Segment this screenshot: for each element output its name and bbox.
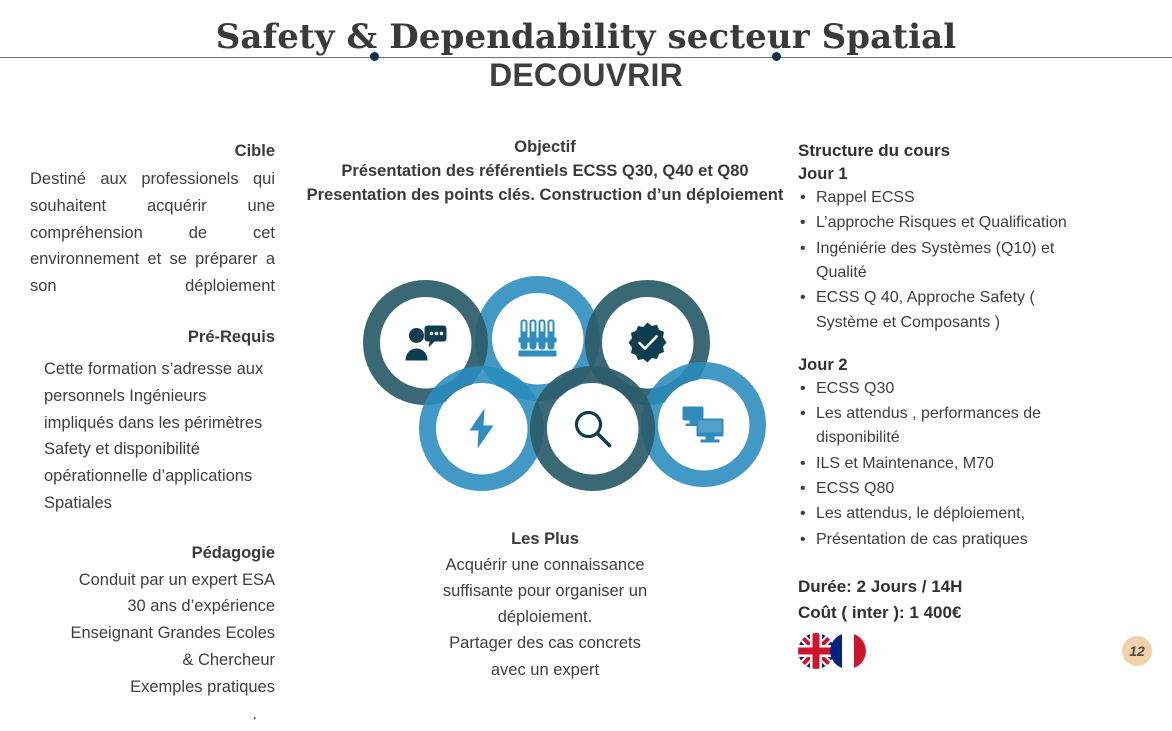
list-item-label: ILS et Maintenance, M70 <box>816 455 994 472</box>
prerequis-heading: Pré-Requis <box>30 326 275 348</box>
les-plus-line: déploiement. <box>395 604 695 630</box>
bullet-icon: • <box>800 377 806 401</box>
ring-icon-slot <box>658 379 749 470</box>
title-line-1: Safety & Dependability secteur Spatial <box>0 18 1172 56</box>
list-item: •Présentation de cas pratiques <box>798 528 1098 552</box>
bullet-icon: • <box>800 452 806 476</box>
monitors-icon <box>682 405 726 445</box>
bullet-icon: • <box>800 402 806 426</box>
france-flag-icon <box>830 633 866 669</box>
list-item: •ECSS Q 40, Approche Safety ( Système et… <box>798 286 1098 335</box>
pedagogie-heading: Pédagogie <box>30 542 275 564</box>
objectif-body: Présentation des référentiels ECSS Q30, … <box>305 160 785 207</box>
prerequis-body: Cette formation s’adresse aux personnels… <box>30 356 275 516</box>
ring-icon-slot <box>436 383 527 474</box>
cible-heading: Cible <box>30 140 275 162</box>
test-tubes-icon <box>518 318 558 360</box>
duration-text: Durée: 2 Jours / 14H <box>798 574 1098 600</box>
les-plus-line: suffisante pour organiser un <box>395 578 695 604</box>
ring-icon-slot <box>547 383 638 474</box>
list-item-label: ECSS Q80 <box>816 480 894 497</box>
uk-flag-icon <box>798 633 834 669</box>
list-item-label: Rappel ECSS <box>816 189 915 206</box>
bullet-icon: • <box>800 286 806 310</box>
bullet-icon: • <box>800 237 806 261</box>
structure-heading: Structure du cours <box>798 140 1098 163</box>
cost-text: Coût ( inter ): 1 400€ <box>798 600 1098 626</box>
list-item: •Ingéniérie des Systèmes (Q10) et Qualit… <box>798 237 1098 286</box>
list-item-label: Présentation de cas pratiques <box>816 531 1028 548</box>
les-plus-line: Acquérir une connaissance <box>395 552 695 578</box>
ring-bottom-right <box>641 362 766 487</box>
pedagogie-line: 30 ans d’expérience <box>30 593 275 620</box>
list-item: •Les attendus , performances de disponib… <box>798 402 1098 451</box>
ring-bottom-center <box>530 366 655 491</box>
slide-root: Safety & Dependability secteur Spatial D… <box>0 0 1172 731</box>
les-plus-body: Acquérir une connaissance suffisante pou… <box>395 552 695 682</box>
bullet-icon: • <box>800 186 806 210</box>
list-item: •Rappel ECSS <box>798 186 1098 210</box>
pricing-block: Durée: 2 Jours / 14H Coût ( inter ): 1 4… <box>798 574 1098 625</box>
list-item-label: Ingéniérie des Systèmes (Q10) et Qualité <box>816 240 1054 281</box>
day2-label: Jour 2 <box>798 356 1098 375</box>
magnifier-icon <box>573 409 613 449</box>
pedagogie-body: Conduit par un expert ESA 30 ans d’expér… <box>30 567 275 701</box>
day1-label: Jour 1 <box>798 165 1098 184</box>
page-number-badge: 12 <box>1122 636 1152 666</box>
language-flags <box>798 633 1098 669</box>
pedagogie-trailing-period: . <box>30 706 275 724</box>
les-plus-block: Les Plus Acquérir une connaissance suffi… <box>395 528 695 683</box>
lightning-bolt-icon <box>467 408 497 450</box>
left-column: Cible Destiné aux professionels qui souh… <box>30 140 275 724</box>
page-title: Safety & Dependability secteur Spatial D… <box>0 18 1172 94</box>
right-column: Structure du cours Jour 1 •Rappel ECSS •… <box>798 140 1098 669</box>
ring-bottom-left <box>419 366 544 491</box>
pedagogie-line: Enseignant Grandes Ecoles <box>30 620 275 647</box>
pedagogie-line: Exemples pratiques <box>30 674 275 701</box>
list-item: •ILS et Maintenance, M70 <box>798 452 1098 476</box>
cible-body: Destiné aux professionels qui souhaitent… <box>30 166 275 300</box>
list-item-label: L’approche Risques et Qualification <box>816 214 1067 231</box>
list-item: •Les attendus, le déploiement, <box>798 502 1098 526</box>
les-plus-line: avec un expert <box>395 657 695 683</box>
list-item-label: ECSS Q30 <box>816 380 894 397</box>
bullet-icon: • <box>800 211 806 235</box>
list-item: •ECSS Q30 <box>798 377 1098 401</box>
list-item: •ECSS Q80 <box>798 477 1098 501</box>
list-item-label: ECSS Q 40, Approche Safety ( Système et … <box>816 289 1035 330</box>
les-plus-line: Partager des cas concrets <box>395 630 695 656</box>
day2-list: •ECSS Q30 •Les attendus , performances d… <box>798 377 1098 552</box>
les-plus-heading: Les Plus <box>395 528 695 550</box>
pedagogie-line: Conduit par un expert ESA <box>30 567 275 594</box>
circles-infographic <box>355 268 760 493</box>
bullet-icon: • <box>800 502 806 526</box>
list-item: •L’approche Risques et Qualification <box>798 211 1098 235</box>
day1-list: •Rappel ECSS •L’approche Risques et Qual… <box>798 186 1098 335</box>
person-speech-icon <box>404 323 448 363</box>
objectif-heading: Objectif <box>305 136 785 158</box>
check-badge-icon <box>627 322 669 364</box>
bullet-icon: • <box>800 477 806 501</box>
pedagogie-line: & Chercheur <box>30 647 275 674</box>
list-item-label: Les attendus, le déploiement, <box>816 505 1025 522</box>
title-line-2: DECOUVRIR <box>0 58 1172 94</box>
middle-column: Objectif Présentation des référentiels E… <box>305 136 785 207</box>
bullet-icon: • <box>800 528 806 552</box>
list-item-label: Les attendus , performances de disponibi… <box>816 405 1041 446</box>
